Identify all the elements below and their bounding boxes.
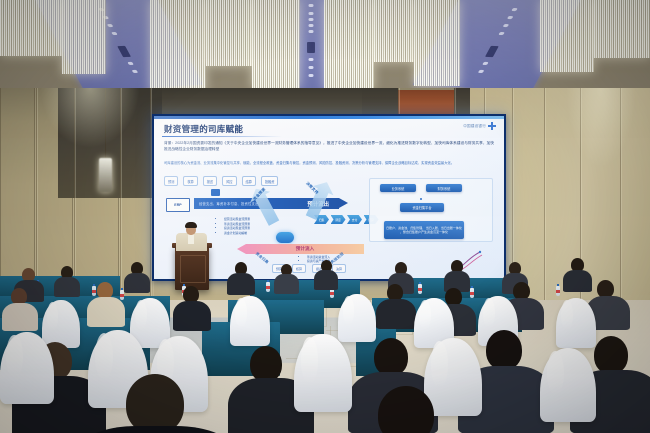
chandelier-cluster-9 (540, 0, 594, 72)
slide-chip: 核算 (183, 176, 197, 186)
platform-detail-box: 日账户、资金池、归集管理、 当日入账、当日出账一体化 ，整合归集账户产生资金沉淀… (384, 221, 464, 239)
inflow-arrow-tip (237, 244, 246, 254)
chandelier-cluster-2 (62, 0, 106, 74)
water-bottle (92, 286, 96, 296)
chandelier-cluster-4 (206, 0, 252, 66)
water-bottle (266, 282, 270, 292)
pendant-light-stem (105, 88, 106, 160)
ceiling (0, 0, 650, 92)
slide-paragraph-primary: 背景：2022年2月国资委印发的通知《关于中央企业加快建设世界一流财务管理体系的… (164, 141, 494, 152)
chandelier-cluster-3 (150, 0, 206, 92)
slide-chip: 结算 (242, 176, 256, 186)
title-underline (162, 136, 282, 137)
slide-chip: 预测 (164, 176, 178, 186)
inflow-label: 预计流入 (296, 246, 314, 252)
conference-photograph: 财资管理的司库赋能 中国建设银行 背景：2022年2月国资委印发的通知《关于中央… (0, 0, 650, 433)
water-bottle (470, 288, 474, 298)
slide-chip-row: 预测 核算 报送 风控 结算 投融资 (164, 176, 278, 186)
water-bottle (556, 286, 560, 296)
podium (175, 246, 209, 290)
slide-top-accent-bar (154, 116, 504, 119)
water-bottle (418, 284, 422, 294)
business-system-button: 业务系统 (380, 184, 416, 192)
audience-chair (338, 294, 376, 342)
logo-text-primary: 中国建设银行 (463, 124, 486, 128)
wall-dark-section (162, 88, 362, 114)
pendant-light (99, 158, 112, 192)
chandelier-cluster-7 (374, 0, 414, 62)
process-chevron: 调度 (331, 215, 346, 224)
slide-chip: 风控 (222, 176, 236, 186)
brand-logo: 中国建设银行 (463, 122, 496, 130)
diagram-node-square (211, 189, 220, 196)
bank-logo-icon (488, 122, 496, 130)
audience-chair (230, 296, 270, 346)
slide-chip: 报送 (203, 176, 217, 186)
erp-system-box: ERP (166, 198, 190, 212)
chandelier-cluster-8 (414, 0, 460, 86)
expected-inflow-bar: 预计流入 (246, 244, 364, 254)
audience-chair (556, 298, 596, 348)
slide-chip: 投融资 (261, 176, 279, 186)
finance-system-button: 财务系统 (426, 184, 462, 192)
process-chevron: 支付 (347, 215, 362, 224)
speaker-shirt (188, 234, 194, 244)
slide-title: 财资管理的司库赋能 (164, 123, 243, 135)
central-hub-node (276, 232, 294, 243)
treasury-platform-panel: 业务系统 财务系统 资金归集平台 日账户、资金池、归集管理、 当日入账、当日出账… (369, 178, 493, 242)
outflow-subtext: 经营支出、筹资补本付息、投资性支出 (194, 201, 258, 206)
bottom-chip: 核算 (292, 264, 306, 273)
slide-paragraph-secondary: 司库建设的核心为资金流、业务流集中化管控与共享、赋能，全流程全覆盖，资金归集与管… (164, 161, 494, 166)
chandelier-cluster-6 (324, 0, 374, 90)
podium-front-panel (180, 255, 206, 283)
speaker-hair (185, 222, 197, 228)
fund-pooling-platform-button: 资金归集平台 (400, 203, 444, 212)
ceiling-light-trough-center (298, 0, 324, 92)
bullet-item: 资金计划滚动编制 (224, 231, 250, 236)
chandelier-cluster-5 (252, 0, 300, 88)
bullet-item: 经营活动现金流预测 (224, 217, 250, 222)
chandelier-cluster-10 (594, 0, 650, 58)
outflow-arrow-tip (339, 198, 348, 208)
chandelier-cluster-1 (0, 0, 62, 56)
decision-support-label: 决策支持 (304, 181, 319, 195)
audience-chair (42, 300, 80, 348)
